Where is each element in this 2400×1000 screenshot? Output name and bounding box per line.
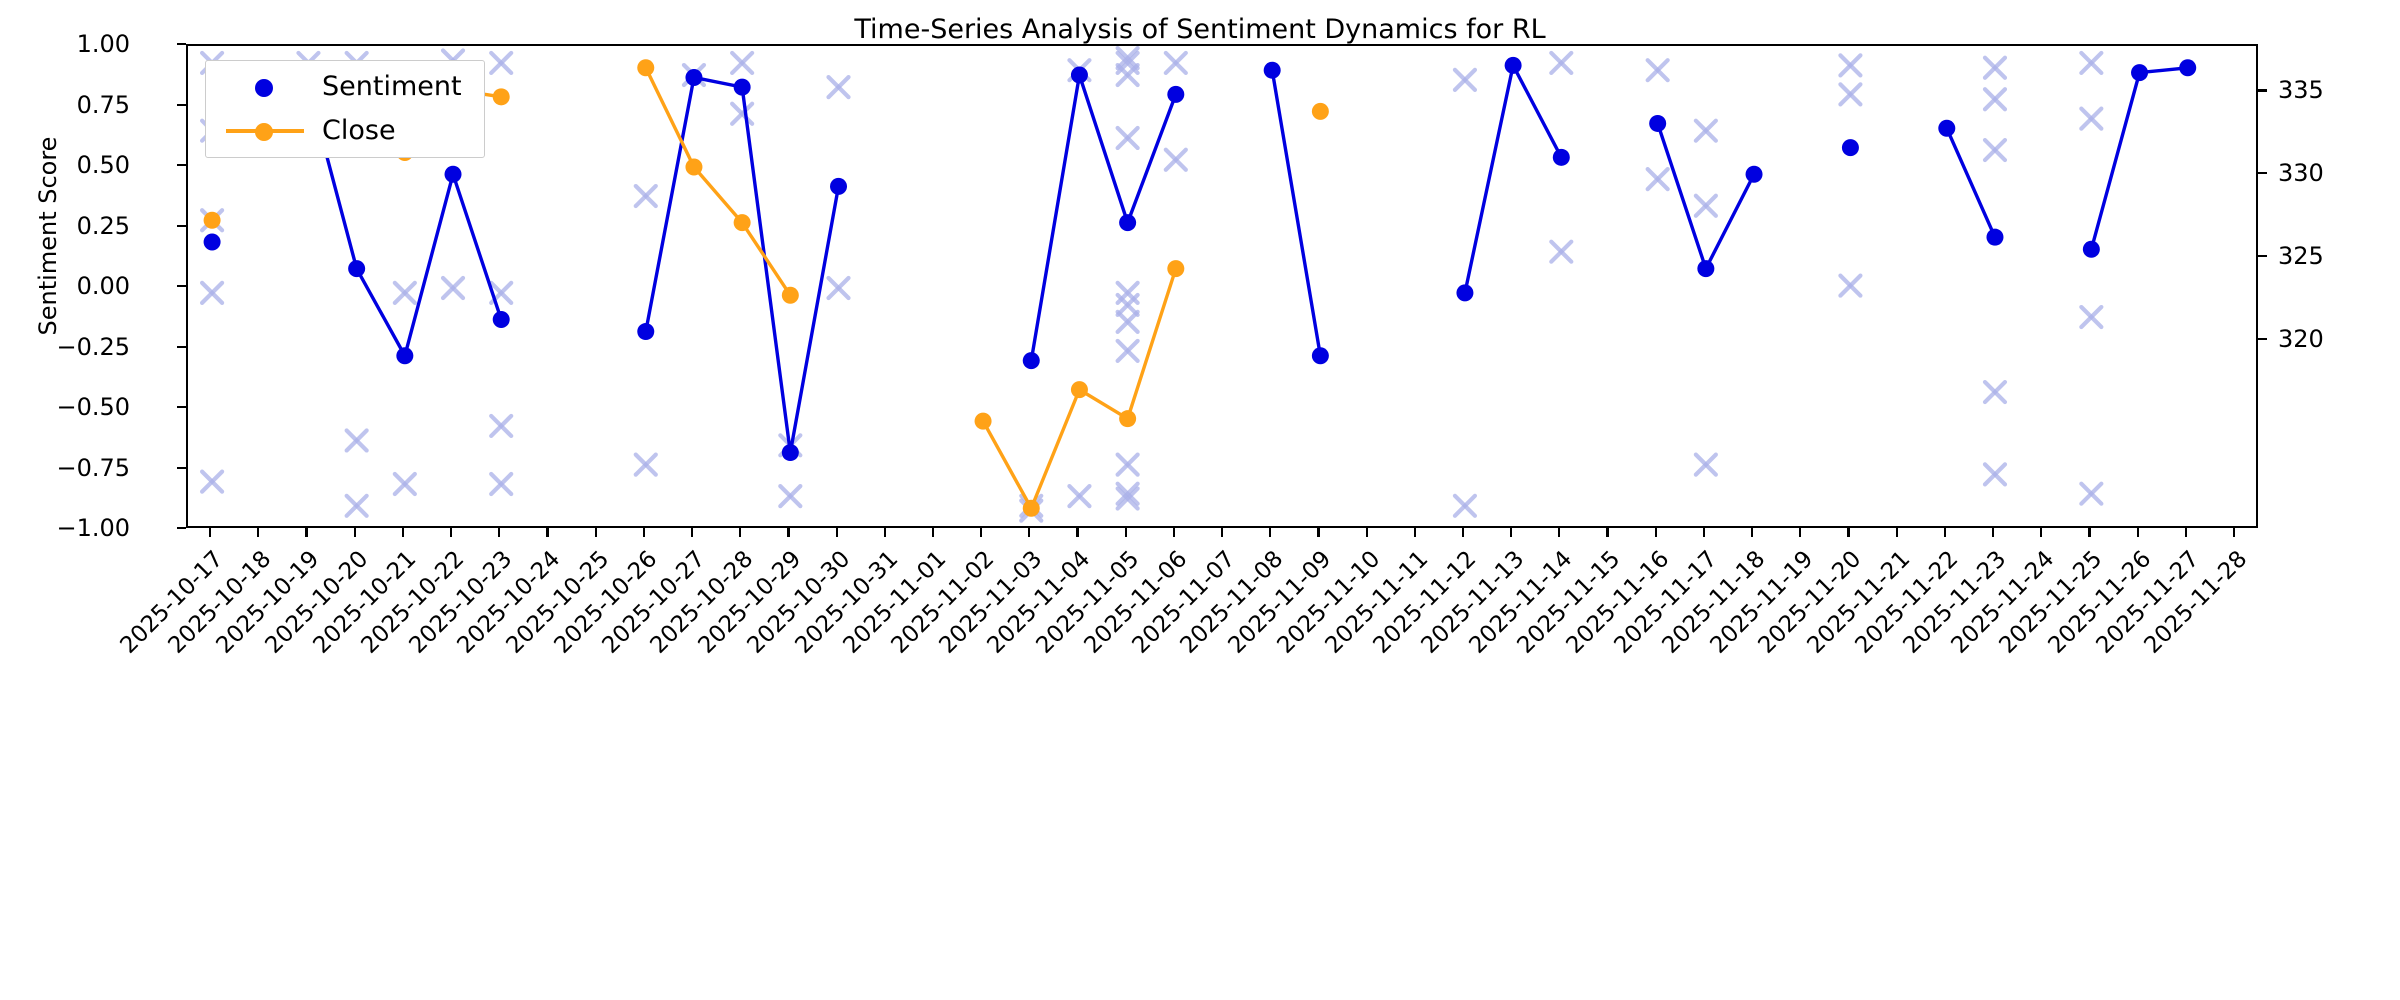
series-marker-dot xyxy=(1938,120,1955,137)
scatter-marker-x xyxy=(491,53,511,73)
scatter-marker-x xyxy=(1166,53,1186,73)
series-marker-dot xyxy=(637,323,654,340)
series-marker-dot xyxy=(1456,284,1473,301)
series-line xyxy=(1465,65,1561,292)
legend-key-sentiment xyxy=(222,73,308,99)
scatter-marker-x xyxy=(1069,486,1089,506)
scatter-marker-x xyxy=(1840,84,1860,104)
scatter-marker-x xyxy=(1648,60,1668,80)
legend-item-close: Close xyxy=(222,115,462,145)
y-axis-left-tick-label: −1.00 xyxy=(0,514,130,542)
series-marker-dot xyxy=(975,413,992,430)
y-axis-left-tick-label: 0.25 xyxy=(0,212,130,240)
series-marker-dot xyxy=(1986,229,2003,246)
series-marker-dot xyxy=(1312,347,1329,364)
scatter-marker-x xyxy=(1985,382,2005,402)
chart-title: Time-Series Analysis of Sentiment Dynami… xyxy=(0,14,2400,45)
plot-area xyxy=(186,44,2258,528)
y-axis-left-tick-label: 0.50 xyxy=(0,151,130,179)
y-axis-left-tick-label: −0.75 xyxy=(0,454,130,482)
scatter-marker-x xyxy=(1455,70,1475,90)
scatter-marker-x xyxy=(1648,169,1668,189)
y-axis-right-tick-label: 325 xyxy=(2278,242,2400,270)
series-marker-dot xyxy=(1312,103,1329,120)
scatter-marker-x xyxy=(2081,53,2101,73)
scatter-marker-x xyxy=(491,416,511,436)
scatter-marker-x xyxy=(1118,65,1138,85)
scatter-marker-x xyxy=(732,104,752,124)
series-line xyxy=(2091,68,2187,250)
series-marker-dot xyxy=(830,178,847,195)
chart-legend: Sentiment Close xyxy=(205,60,485,158)
scatter-group xyxy=(202,48,2101,521)
scatter-marker-x xyxy=(1118,312,1138,332)
series-marker-dot xyxy=(2179,59,2196,76)
series-marker-dot xyxy=(1071,381,1088,398)
y-axis-left-tick-label: 1.00 xyxy=(0,30,130,58)
y-axis-left-tickmark xyxy=(177,164,186,166)
series-marker-dot xyxy=(204,234,221,251)
series-marker-dot xyxy=(685,69,702,86)
scatter-marker-x xyxy=(1455,496,1475,516)
scatter-marker-x xyxy=(1551,242,1571,262)
scatter-marker-x xyxy=(443,278,463,298)
y-axis-right-tick-label: 335 xyxy=(2278,76,2400,104)
y-axis-left-tick-label: 0.75 xyxy=(0,91,130,119)
series-marker-dot xyxy=(1167,260,1184,277)
y-axis-left-tickmark xyxy=(177,406,186,408)
series-marker-dot xyxy=(782,287,799,304)
series-marker-dot xyxy=(734,214,751,231)
y-axis-left-tickmark xyxy=(177,225,186,227)
series-marker-dot xyxy=(493,88,510,105)
y-axis-left-tickmark xyxy=(177,527,186,529)
scatter-marker-x xyxy=(1118,455,1138,475)
series-marker-dot xyxy=(2083,241,2100,258)
y-axis-left-tickmark xyxy=(177,285,186,287)
scatter-marker-x xyxy=(2081,307,2101,327)
scatter-marker-x xyxy=(2081,484,2101,504)
series-marker-dot xyxy=(396,347,413,364)
scatter-marker-x xyxy=(1840,276,1860,296)
scatter-marker-x xyxy=(1985,140,2005,160)
series-marker-dot xyxy=(1842,139,1859,156)
series-marker-dot xyxy=(348,260,365,277)
series-line xyxy=(1031,75,1176,361)
series-marker-dot xyxy=(204,212,221,229)
scatter-marker-x xyxy=(347,430,367,450)
scatter-marker-x xyxy=(1696,455,1716,475)
legend-marker-dot xyxy=(255,79,273,97)
legend-marker-dot xyxy=(255,123,273,141)
y-axis-left-tick-label: 0.00 xyxy=(0,272,130,300)
scatter-marker-x xyxy=(395,474,415,494)
series-line xyxy=(646,68,791,295)
series-line xyxy=(646,77,839,452)
series-marker-dot xyxy=(1697,260,1714,277)
series-marker-dot xyxy=(637,59,654,76)
legend-label-close: Close xyxy=(322,115,396,146)
series-marker-dot xyxy=(445,166,462,183)
y-axis-left-tickmark xyxy=(177,467,186,469)
scatter-marker-x xyxy=(491,474,511,494)
scatter-marker-x xyxy=(2081,109,2101,129)
scatter-marker-x xyxy=(636,186,656,206)
y-axis-left-tick-label: −0.25 xyxy=(0,333,130,361)
scatter-marker-x xyxy=(1166,150,1186,170)
y-axis-right-tick-label: 330 xyxy=(2278,159,2400,187)
legend-label-sentiment: Sentiment xyxy=(322,71,462,102)
series-marker-dot xyxy=(1071,67,1088,84)
series-marker-dot xyxy=(1746,166,1763,183)
series-marker-dot xyxy=(782,444,799,461)
scatter-marker-x xyxy=(1696,196,1716,216)
scatter-marker-x xyxy=(636,455,656,475)
series-marker-dot xyxy=(1553,149,1570,166)
y-axis-left-tickmark xyxy=(177,43,186,45)
plot-canvas xyxy=(188,46,2260,530)
series-marker-dot xyxy=(1649,115,1666,132)
y-axis-left-tick-label: −0.50 xyxy=(0,393,130,421)
series-marker-dot xyxy=(493,311,510,328)
scatter-marker-x xyxy=(202,472,222,492)
scatter-marker-x xyxy=(1985,464,2005,484)
scatter-marker-x xyxy=(347,496,367,516)
scatter-marker-x xyxy=(1696,121,1716,141)
series-marker-dot xyxy=(1119,214,1136,231)
series-marker-dot xyxy=(1505,57,1522,74)
scatter-marker-x xyxy=(1551,53,1571,73)
scatter-marker-x xyxy=(1118,341,1138,361)
legend-key-close xyxy=(222,117,308,143)
scatter-marker-x xyxy=(829,278,849,298)
y-axis-right-tick-label: 320 xyxy=(2278,325,2400,353)
y-axis-left-tickmark xyxy=(177,104,186,106)
scatter-marker-x xyxy=(202,283,222,303)
y-axis-left-tickmark xyxy=(177,346,186,348)
scatter-marker-x xyxy=(1840,55,1860,75)
scatter-marker-x xyxy=(1118,128,1138,148)
scatter-marker-x xyxy=(829,77,849,97)
scatter-marker-x xyxy=(395,283,415,303)
scatter-marker-x xyxy=(1985,89,2005,109)
series-sentiment xyxy=(204,57,2197,461)
series-marker-dot xyxy=(1023,500,1040,517)
scatter-marker-x xyxy=(732,53,752,73)
series-marker-dot xyxy=(1167,86,1184,103)
series-marker-dot xyxy=(685,159,702,176)
series-marker-dot xyxy=(2131,64,2148,81)
series-marker-dot xyxy=(1023,352,1040,369)
series-marker-dot xyxy=(1264,62,1281,79)
series-line xyxy=(1658,123,1754,268)
series-marker-dot xyxy=(1119,410,1136,427)
legend-item-sentiment: Sentiment xyxy=(222,71,462,101)
scatter-marker-x xyxy=(780,486,800,506)
scatter-marker-x xyxy=(1985,58,2005,78)
series-marker-dot xyxy=(734,79,751,96)
chart-root: Time-Series Analysis of Sentiment Dynami… xyxy=(0,0,2400,1000)
